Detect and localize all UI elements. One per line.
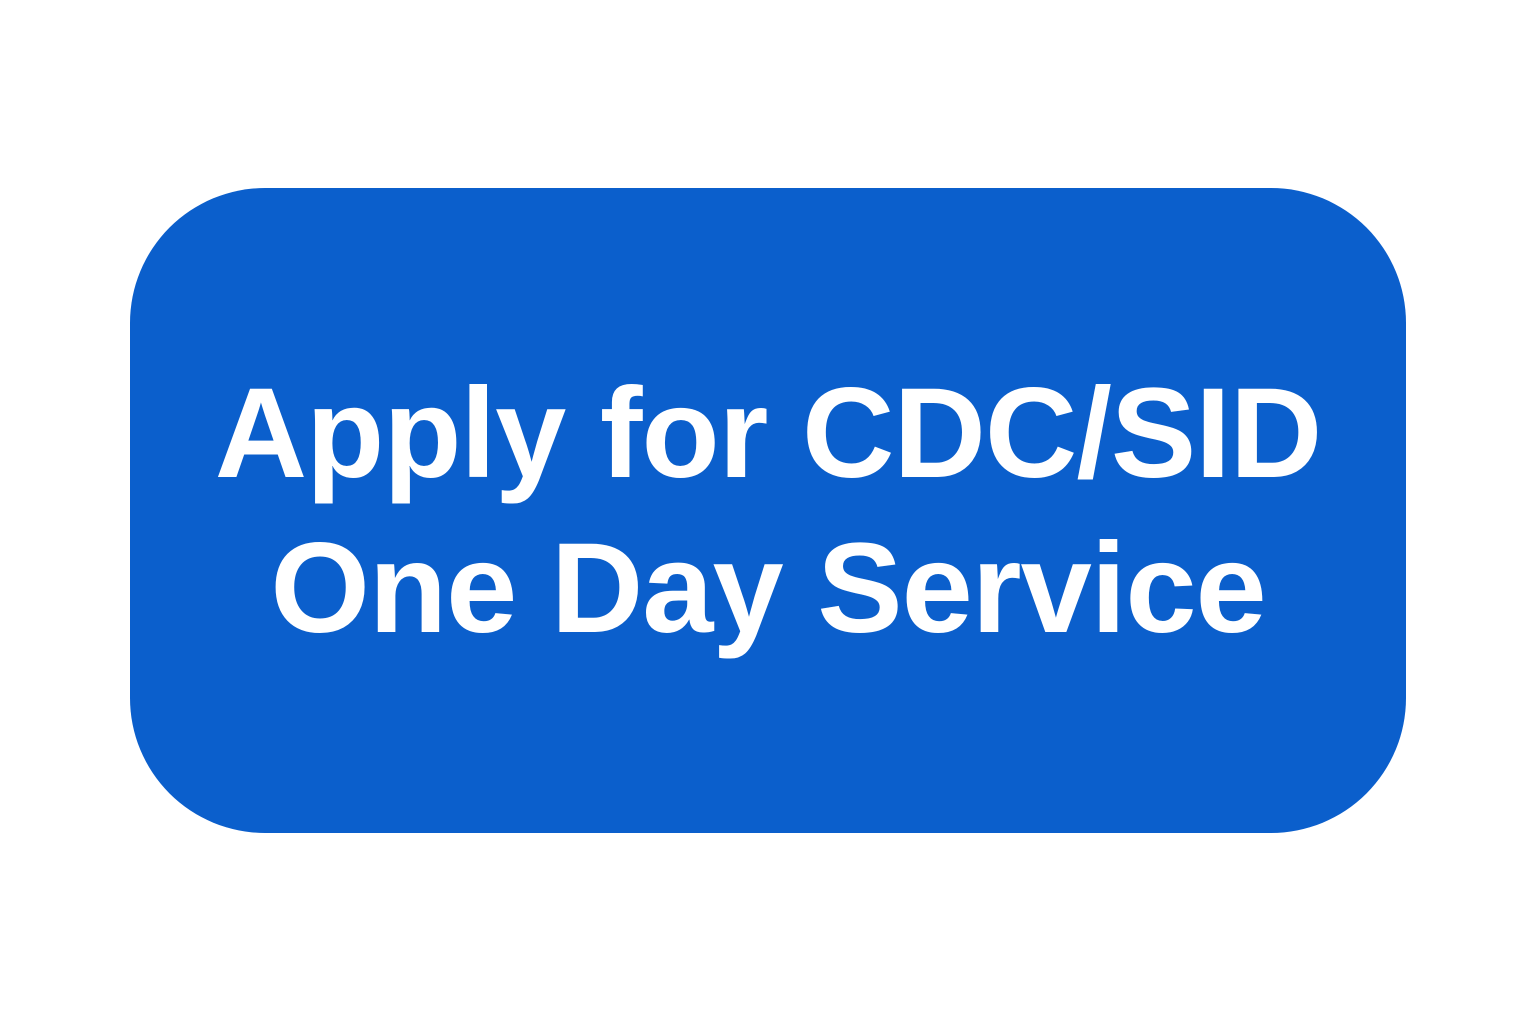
apply-cdc-sid-one-day-service-button[interactable]: Apply for CDC/SID One Day Service: [130, 188, 1406, 833]
cta-button-label-line-1: Apply for CDC/SID: [215, 356, 1322, 511]
cta-button-label: Apply for CDC/SID One Day Service: [215, 356, 1322, 666]
page-root: Apply for CDC/SID One Day Service: [0, 0, 1536, 1024]
cta-button-label-line-2: One Day Service: [215, 511, 1322, 666]
